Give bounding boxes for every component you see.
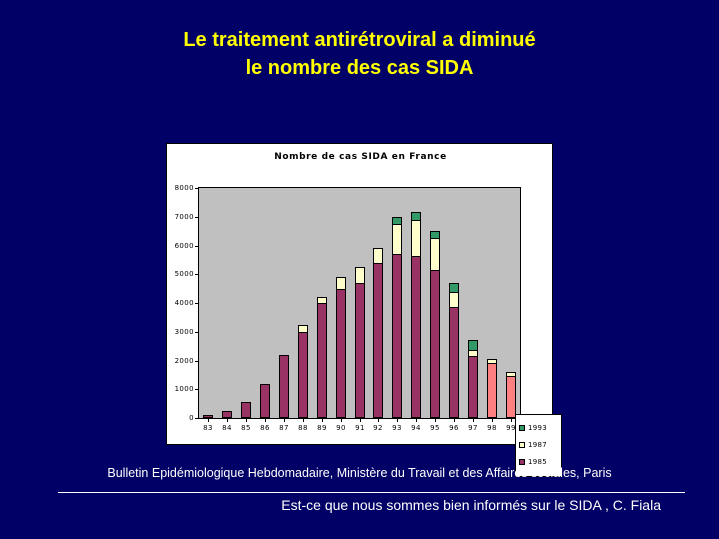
x-axis-label: 87: [279, 424, 289, 432]
plot-area: 0100020003000400050006000700080008384858…: [198, 187, 521, 419]
chart-container: Nombre de cas SIDA en France 01000200030…: [166, 143, 553, 445]
bar-segment-1985: [241, 402, 251, 418]
x-axis-tick: [378, 418, 379, 422]
x-axis-tick: [341, 418, 342, 422]
bar-segment-1985: [506, 376, 516, 418]
source-note: Bulletin Epidémiologique Hebdomadaire, M…: [0, 466, 719, 480]
bar-column: [222, 411, 232, 418]
x-axis-label: 95: [430, 424, 440, 432]
footer-note: Est-ce que nous sommes bien informés sur…: [0, 497, 719, 513]
x-axis-tick: [227, 418, 228, 422]
y-axis-tick: [195, 246, 199, 247]
y-axis-label: 7000: [175, 213, 194, 221]
bar-column: [392, 217, 402, 418]
bar-segment-1987: [449, 292, 459, 308]
y-axis-tick: [195, 217, 199, 218]
legend-swatch-icon: [519, 459, 525, 465]
bar-column: [411, 212, 421, 418]
x-axis-label: 88: [298, 424, 308, 432]
x-axis-tick: [265, 418, 266, 422]
bar-segment-1987: [411, 220, 421, 256]
x-axis-tick: [360, 418, 361, 422]
bar-segment-1985: [411, 256, 421, 418]
x-axis-label: 96: [449, 424, 459, 432]
bar-column: [298, 325, 308, 418]
x-axis-label: 83: [203, 424, 213, 432]
bar-segment-1987: [336, 277, 346, 289]
y-axis-label: 8000: [175, 184, 194, 192]
bar-segment-1985: [298, 332, 308, 418]
bar-column: [487, 359, 497, 418]
x-axis-tick: [208, 418, 209, 422]
y-axis-tick: [195, 389, 199, 390]
bar-column: [506, 372, 516, 418]
y-axis-label: 1000: [175, 385, 194, 393]
x-axis-label: 98: [487, 424, 497, 432]
bar-column: [317, 297, 327, 418]
x-axis-label: 86: [260, 424, 270, 432]
y-axis-label: 4000: [175, 299, 194, 307]
bar-segment-1987: [430, 238, 440, 270]
bar-segment-1993: [392, 217, 402, 224]
bar-segment-1985: [487, 363, 497, 418]
bar-column: [260, 384, 270, 419]
bar-segment-1985: [373, 263, 383, 418]
y-axis-tick: [195, 361, 199, 362]
x-axis-tick: [322, 418, 323, 422]
page-title-line-2: le nombre des cas SIDA: [0, 54, 719, 82]
bar-column: [336, 277, 346, 418]
x-axis-tick: [492, 418, 493, 422]
legend-swatch-icon: [519, 425, 525, 431]
chart-title: Nombre de cas SIDA en France: [167, 152, 554, 162]
y-axis-tick: [195, 332, 199, 333]
x-axis-tick: [246, 418, 247, 422]
x-axis-tick: [416, 418, 417, 422]
bar-column: [241, 402, 251, 418]
bar-column: [203, 415, 213, 418]
bar-segment-1993: [449, 283, 459, 292]
bar-segment-1985: [355, 283, 365, 418]
x-axis-tick: [284, 418, 285, 422]
bar-segment-1985: [203, 415, 213, 418]
bar-segment-1985: [279, 355, 289, 418]
x-axis-label: 94: [411, 424, 421, 432]
y-axis-label: 6000: [175, 242, 194, 250]
y-axis-tick: [195, 418, 199, 419]
y-axis-label: 3000: [175, 328, 194, 336]
y-axis-tick: [195, 274, 199, 275]
bar-segment-1993: [468, 340, 478, 350]
bar-segment-1985: [317, 303, 327, 418]
x-axis-tick: [397, 418, 398, 422]
x-axis-label: 93: [392, 424, 402, 432]
bar-column: [430, 231, 440, 418]
footer-divider: [58, 492, 685, 493]
x-axis-label: 91: [355, 424, 365, 432]
legend-item-label: 1987: [528, 441, 547, 449]
x-axis-label: 84: [222, 424, 232, 432]
x-axis-tick: [435, 418, 436, 422]
page-title-line-1: Le traitement antirétroviral a diminué: [0, 26, 719, 54]
legend-swatch-icon: [519, 442, 525, 448]
bar-segment-1993: [430, 231, 440, 238]
bar-column: [449, 283, 459, 418]
bar-column: [468, 340, 478, 418]
bar-segment-1987: [298, 325, 308, 332]
bar-segment-1987: [373, 248, 383, 262]
x-axis-label: 90: [336, 424, 346, 432]
bar-segment-1985: [468, 356, 478, 418]
legend-item-label: 1985: [528, 458, 547, 466]
bar-column: [373, 248, 383, 418]
x-axis-label: 92: [373, 424, 383, 432]
bar-column: [355, 267, 365, 418]
legend-item: 1993: [519, 419, 558, 436]
y-axis-label: 5000: [175, 270, 194, 278]
x-axis-label: 97: [468, 424, 478, 432]
legend-item: 1987: [519, 436, 558, 453]
y-axis-label: 2000: [175, 357, 194, 365]
legend-item-label: 1993: [528, 424, 547, 432]
bar-segment-1985: [392, 254, 402, 418]
x-axis-tick: [473, 418, 474, 422]
bar-segment-1987: [392, 224, 402, 254]
x-axis-tick: [511, 418, 512, 422]
y-axis-label: 0: [189, 414, 194, 422]
bar-segment-1993: [411, 212, 421, 219]
bar-segment-1985: [430, 270, 440, 418]
bar-segment-1987: [355, 267, 365, 283]
bar-segment-1985: [449, 307, 459, 418]
y-axis-tick: [195, 188, 199, 189]
y-axis-tick: [195, 303, 199, 304]
page-title: Le traitement antirétroviral a diminué l…: [0, 26, 719, 82]
x-axis-tick: [303, 418, 304, 422]
bar-column: [279, 355, 289, 418]
x-axis-tick: [454, 418, 455, 422]
bar-segment-1985: [260, 384, 270, 419]
x-axis-label: 85: [241, 424, 251, 432]
bar-segment-1985: [222, 411, 232, 418]
bar-segment-1985: [336, 289, 346, 418]
x-axis-label: 89: [317, 424, 327, 432]
